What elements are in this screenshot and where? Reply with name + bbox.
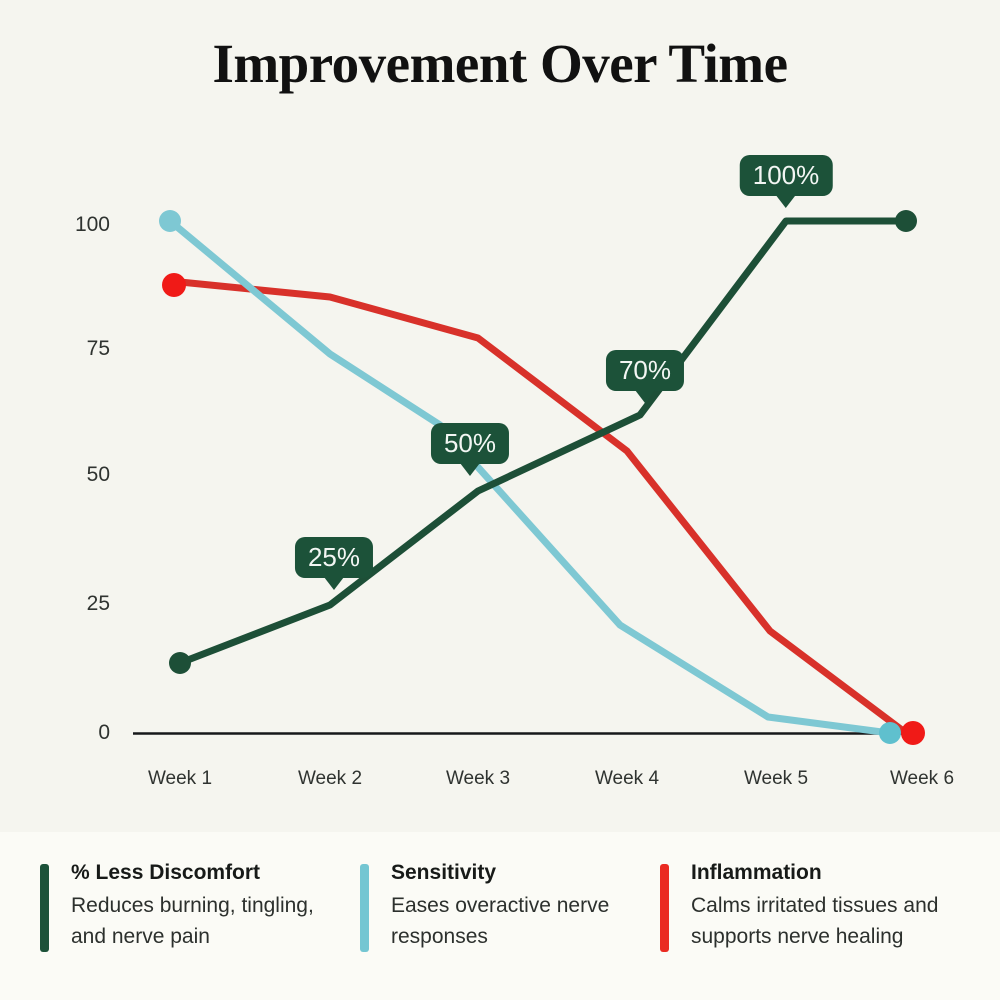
marker-less-discomfort-end	[895, 210, 917, 232]
data-label-callout-week4: 70%	[606, 350, 684, 404]
legend-text-block: Sensitivity Eases overactive nerve respo…	[391, 860, 650, 952]
data-label-callout-week2: 25%	[295, 537, 373, 591]
series-line-inflammation	[180, 282, 906, 733]
marker-sensitivity-start	[159, 210, 181, 232]
marker-sensitivity-end	[879, 722, 901, 744]
chart-panel: Improvement Over Time 100 75 50 25 0	[0, 0, 1000, 832]
callout-tail	[460, 463, 480, 476]
x-axis-tick-week1: Week 1	[110, 768, 250, 790]
x-axis-tick-week3: Week 3	[408, 768, 548, 790]
legend-item-inflammation[interactable]: Inflammation Calms irritated tissues and…	[650, 860, 1000, 952]
legend: % Less Discomfort Reduces burning, tingl…	[0, 832, 1000, 1000]
marker-inflammation-end	[901, 721, 925, 745]
series-line-less-discomfort	[180, 221, 906, 663]
data-label-value: 50%	[431, 423, 509, 464]
data-label-callout-week3: 50%	[431, 423, 509, 477]
data-label-value: 70%	[606, 350, 684, 391]
legend-item-title: Sensitivity	[391, 860, 650, 886]
legend-swatch-icon	[40, 864, 49, 952]
legend-item-less-discomfort[interactable]: % Less Discomfort Reduces burning, tingl…	[0, 860, 350, 952]
data-label-value: 100%	[740, 155, 833, 196]
legend-item-sensitivity[interactable]: Sensitivity Eases overactive nerve respo…	[350, 860, 650, 952]
callout-tail	[776, 195, 796, 208]
data-label-callout-week5: 100%	[740, 155, 833, 209]
data-label-value: 25%	[295, 537, 373, 578]
legend-text-block: % Less Discomfort Reduces burning, tingl…	[71, 860, 350, 952]
plot-area	[0, 0, 1000, 832]
callout-tail	[324, 577, 344, 590]
legend-swatch-icon	[660, 864, 669, 952]
marker-less-discomfort-start	[169, 652, 191, 674]
legend-item-title: % Less Discomfort	[71, 860, 350, 886]
x-axis-tick-week5: Week 5	[706, 768, 846, 790]
legend-item-title: Inflammation	[691, 860, 986, 886]
series-line-sensitivity	[170, 221, 890, 733]
marker-inflammation-start	[162, 273, 186, 297]
legend-item-description: Reduces burning, tingling, and nerve pai…	[71, 891, 350, 952]
legend-swatch-icon	[360, 864, 369, 952]
legend-item-description: Eases overactive nerve responses	[391, 891, 650, 952]
legend-item-description: Calms irritated tissues and supports ner…	[691, 891, 986, 952]
x-axis-tick-week6: Week 6	[852, 768, 992, 790]
x-axis-tick-week4: Week 4	[557, 768, 697, 790]
x-axis-tick-week2: Week 2	[260, 768, 400, 790]
chart-screenshot: Improvement Over Time 100 75 50 25 0	[0, 0, 1000, 1000]
legend-text-block: Inflammation Calms irritated tissues and…	[691, 860, 986, 952]
callout-tail	[635, 390, 655, 403]
